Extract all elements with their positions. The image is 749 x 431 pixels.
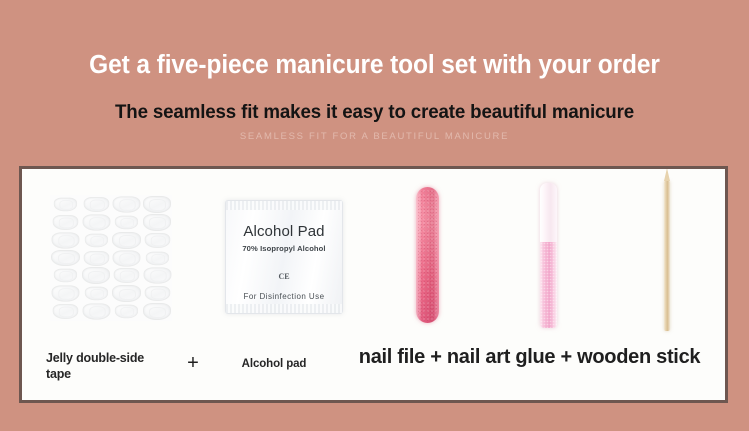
caption-jelly-tape: Jelly double-side tape <box>46 350 166 382</box>
tape-tab <box>51 250 80 267</box>
product-alcohol-pad: Alcohol Pad 70% Isopropyl Alcohol CE For… <box>208 169 358 341</box>
tape-tab <box>143 303 172 320</box>
headline: Get a five-piece manicure tool set with … <box>15 51 734 80</box>
tape-tab <box>113 196 140 212</box>
sachet-title: Alcohol Pad <box>226 223 342 240</box>
wooden-stick-image <box>664 181 670 331</box>
promo-banner: Get a five-piece manicure tool set with … <box>0 0 749 431</box>
tape-tab <box>53 304 78 319</box>
tape-tab <box>82 303 109 319</box>
product-photo-row: Alcohol Pad 70% Isopropyl Alcohol CE For… <box>22 169 725 341</box>
tape-tab <box>82 267 111 284</box>
product-caption-row: Jelly double-side tape + Alcohol pad nai… <box>22 343 725 400</box>
sachet-footer: For Disinfection Use <box>226 292 342 301</box>
tape-tab <box>113 250 140 266</box>
tape-tab <box>114 268 139 283</box>
tape-tab <box>115 305 138 318</box>
glue-pen-body <box>540 242 557 328</box>
product-jelly-tape <box>34 169 194 341</box>
tape-tab <box>145 251 168 264</box>
tape-tab <box>54 198 77 211</box>
tape-tab <box>54 269 77 282</box>
nail-art-glue-image <box>540 183 557 328</box>
eyebrow-text: SEAMLESS FIT FOR A BEAUTIFUL MANICURE <box>0 131 749 142</box>
nail-file-image <box>416 187 439 323</box>
tape-tab <box>52 232 79 248</box>
tape-tab <box>83 197 108 212</box>
subheadline: The seamless fit makes it easy to create… <box>15 101 734 124</box>
tape-tab <box>53 215 78 230</box>
tape-tab <box>83 251 108 266</box>
tape-tab <box>82 214 109 230</box>
tape-tab <box>112 285 141 302</box>
sachet-subtitle: 70% Isopropyl Alcohol <box>226 244 342 253</box>
tape-tab <box>84 233 107 246</box>
tape-tab <box>143 268 170 284</box>
tape-tab <box>84 287 107 300</box>
tape-tab <box>144 286 169 301</box>
tape-tab <box>144 233 169 248</box>
product-wooden-stick <box>612 169 722 341</box>
jelly-tape-sheet-image <box>50 195 172 321</box>
caption-remaining-tools: nail file + nail art glue + wooden stick <box>332 346 727 369</box>
tape-tab <box>143 214 172 231</box>
tape-tab <box>112 232 141 249</box>
product-nail-file <box>370 169 486 341</box>
glue-pen-cap <box>540 183 557 245</box>
tape-tab <box>143 196 172 213</box>
alcohol-pad-sachet-image: Alcohol Pad 70% Isopropyl Alcohol CE For… <box>225 200 343 314</box>
product-panel: Alcohol Pad 70% Isopropyl Alcohol CE For… <box>19 166 728 403</box>
caption-alcohol-pad: Alcohol pad <box>207 358 341 370</box>
product-nail-art-glue <box>490 169 606 341</box>
ce-mark-icon: CE <box>226 272 342 281</box>
tape-tab <box>52 286 79 302</box>
tape-tab <box>115 216 138 229</box>
